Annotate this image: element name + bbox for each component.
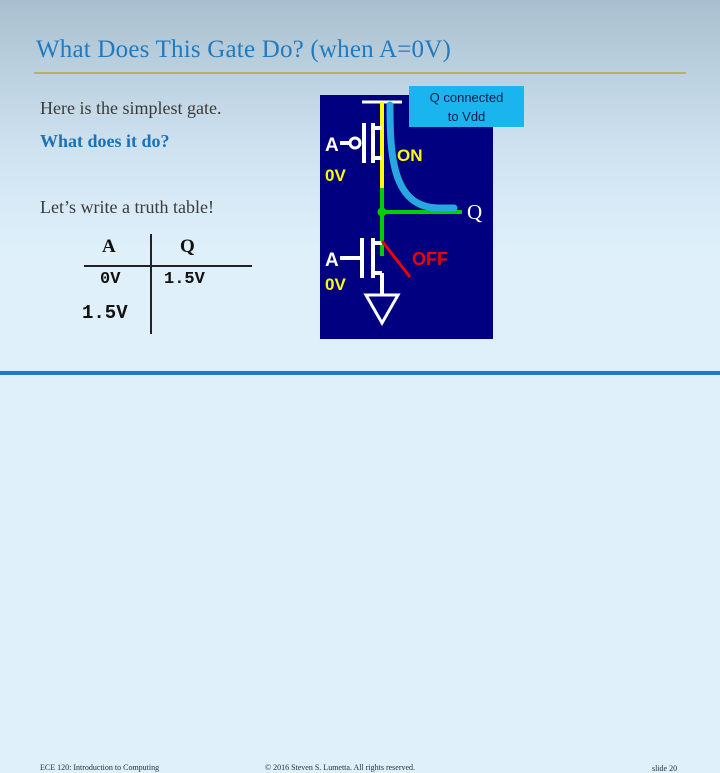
callout-line-1: Q connected [409, 88, 524, 107]
truth-table-header-q: Q [180, 236, 195, 258]
title-divider [34, 72, 686, 74]
truth-table-horizontal-divider [84, 265, 252, 267]
callout-line-2: to Vdd [409, 107, 524, 126]
page-title: What Does This Gate Do? (when A=0V) [36, 36, 686, 64]
truth-table-header-a: A [102, 236, 116, 258]
truth-table-vertical-divider [150, 234, 152, 334]
label-nmos-voltage: 0V [325, 275, 346, 294]
body-line-3: Let’s write a truth table! [40, 197, 214, 218]
circuit-diagram: A 0V ON A 0V OFF Q [320, 95, 493, 339]
footer-slide-number: slide 20 [652, 764, 677, 773]
callout-box: Q connected to Vdd [409, 86, 524, 127]
footer-copyright: © 2016 Steven S. Lumetta. All rights res… [265, 763, 415, 772]
label-pmos-voltage: 0V [325, 166, 346, 185]
label-pmos-state-on: ON [397, 146, 423, 165]
footer-band: ECE 120: Introduction to Computing © 201… [0, 375, 720, 405]
label-nmos-state-off: OFF [412, 249, 448, 269]
body-line-2-question: What does it do? [40, 131, 170, 152]
truth-table-cell-q-row0: 1.5V [164, 270, 205, 289]
label-nmos-input: A [325, 250, 339, 271]
truth-table-cell-a-row1: 1.5V [82, 302, 128, 324]
off-slash [382, 241, 410, 277]
pmos-inversion-bubble [350, 138, 360, 148]
ground-symbol [366, 295, 398, 323]
body-line-1: Here is the simplest gate. [40, 98, 221, 119]
circuit-svg: A 0V ON A 0V OFF Q [320, 95, 493, 339]
label-pmos-input: A [325, 135, 339, 156]
output-junction-dot [378, 208, 387, 217]
footer-course: ECE 120: Introduction to Computing [40, 763, 159, 772]
truth-table: A Q 0V 1.5V 1.5V [78, 234, 258, 334]
truth-table-cell-a-row0: 0V [100, 270, 120, 289]
slide-canvas: What Does This Gate Do? (when A=0V) Here… [0, 0, 720, 405]
label-output-q: Q [467, 200, 482, 224]
